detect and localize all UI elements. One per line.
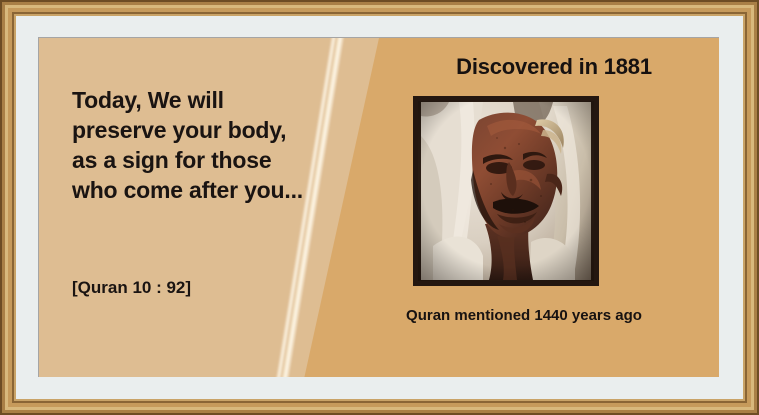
headline-discovered: Discovered in 1881 [394, 54, 714, 80]
quote-text: Today, We will preserve your body, as a … [72, 86, 312, 206]
mummy-photograph [413, 96, 599, 286]
picture-frame: Today, We will preserve your body, as a … [0, 0, 759, 415]
quran-citation: [Quran 10 : 92] [72, 278, 191, 298]
mummy-photo-graphic [413, 96, 599, 286]
caption-quran-mentioned: Quran mentioned 1440 years ago [339, 307, 709, 324]
poster-panel: Today, We will preserve your body, as a … [38, 37, 719, 377]
